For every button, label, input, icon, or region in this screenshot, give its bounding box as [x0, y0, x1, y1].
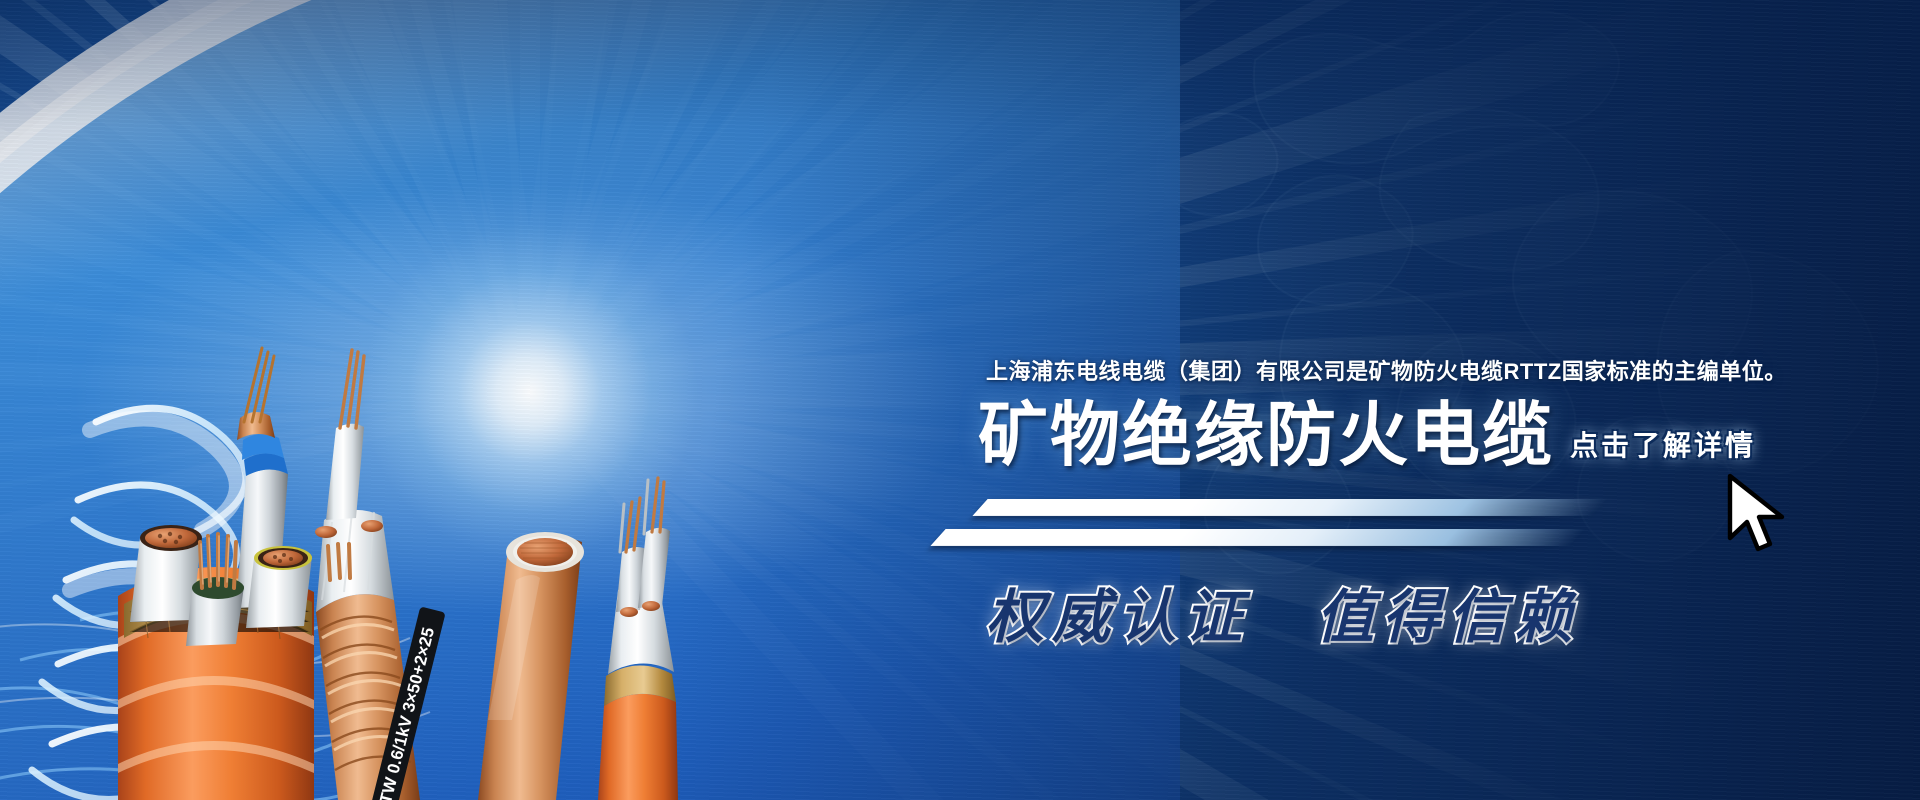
- divider-bar-bottom: [930, 529, 1585, 546]
- mouse-pointer-icon: [1724, 472, 1800, 558]
- headline-row: 矿物绝缘防火电缆 点击了解详情: [978, 400, 1756, 470]
- page-title: 矿物绝缘防火电缆: [978, 400, 1554, 470]
- tagline: 权威认证 值得信赖: [986, 570, 1580, 654]
- cable-product-image: YTTW 0.6/1kV 3×50+2×25: [0, 160, 860, 800]
- learn-more-button[interactable]: 点击了解详情: [1570, 424, 1756, 464]
- decorative-divider: [860, 495, 1660, 569]
- lead-text: 上海浦东电线电缆（集团）有限公司是矿物防火电缆RTTZ国家标准的主编单位。: [986, 354, 1787, 386]
- divider-bar-top: [972, 499, 1607, 516]
- hero-banner: YTTW 0.6/1kV 3×50+2×25: [0, 0, 1920, 800]
